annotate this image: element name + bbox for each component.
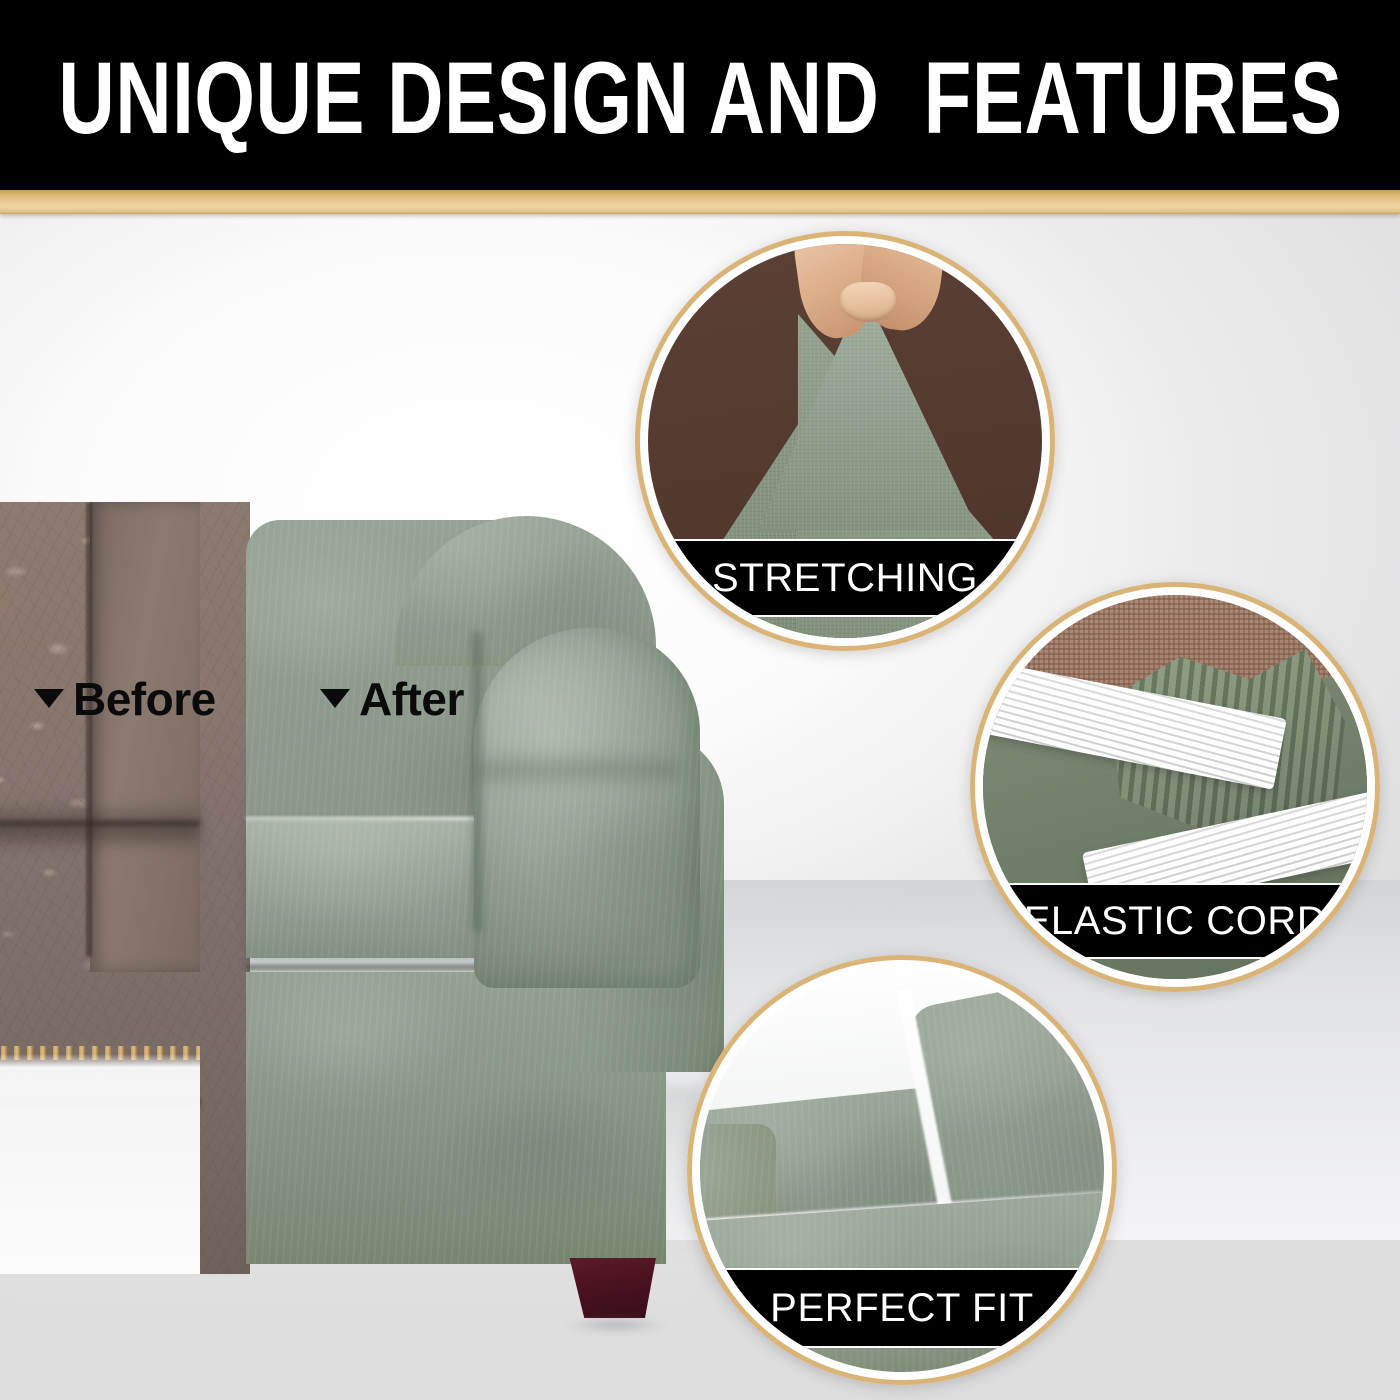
before-sofa-image <box>0 502 250 1274</box>
velvet-texture <box>474 628 700 988</box>
before-sofa-arm <box>90 502 200 972</box>
perfect-fit-label-text: PERFECT FIT <box>770 1286 1034 1331</box>
stretching-label-text: STRETCHING <box>712 556 978 601</box>
before-cushion-seam-horizontal <box>0 820 200 827</box>
elastic-cord-label-text: ELASTIC CORD <box>1024 899 1327 944</box>
gold-accent-bar <box>0 190 1400 214</box>
feature-circle-stretching[interactable]: STRETCHING <box>635 231 1055 651</box>
triangle-down-icon <box>34 689 64 708</box>
infographic-canvas: UNIQUE DESIGN AND FEATURES <box>0 0 1400 1400</box>
fabric-weave-texture <box>758 290 978 530</box>
triangle-down-icon <box>320 689 350 708</box>
before-cushion-seam-vertical <box>86 502 92 957</box>
stretching-photo: STRETCHING <box>648 244 1042 638</box>
after-label-text: After <box>359 672 464 726</box>
after-label: After <box>320 672 464 726</box>
elastic-cord-photo: ELASTIC CORD <box>983 595 1367 979</box>
feature-circle-perfect-fit[interactable]: PERFECT FIT <box>687 955 1117 1385</box>
elastic-cord-label-band: ELASTIC CORD <box>983 883 1367 959</box>
before-after-comparison: Before After <box>0 214 760 1154</box>
before-sofa-body <box>0 502 250 1274</box>
perfect-fit-photo: PERFECT FIT <box>700 968 1104 1372</box>
after-arm-shadow <box>478 752 678 786</box>
before-label-text: Before <box>73 672 216 726</box>
before-bottom-fade <box>0 1054 200 1274</box>
perfect-fit-label-band: PERFECT FIT <box>700 1268 1104 1348</box>
feature-circle-elastic-cord[interactable]: ELASTIC CORD <box>970 582 1380 992</box>
header-banner: UNIQUE DESIGN AND FEATURES <box>0 0 1400 190</box>
sofa-leg-shadow <box>546 1314 686 1336</box>
before-label: Before <box>34 672 216 726</box>
fingernail-icon <box>840 282 896 322</box>
after-rolled-arm <box>474 628 700 988</box>
fabric-stretched-peak <box>758 290 978 530</box>
page-title: UNIQUE DESIGN AND FEATURES <box>58 41 1342 148</box>
